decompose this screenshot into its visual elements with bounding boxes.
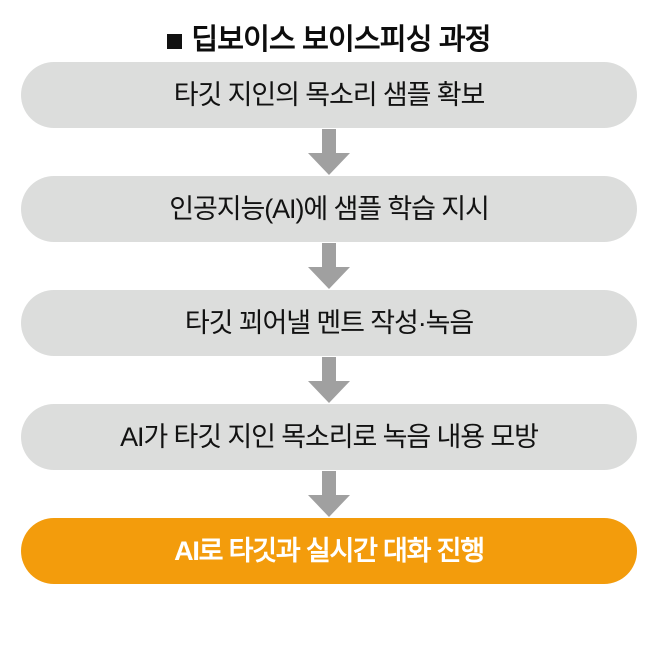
flow-step-label-5: AI로 타깃과 실시간 대화 진행 [174, 538, 484, 565]
flow-connector-3 [0, 356, 658, 404]
flow-container: 타깃 지인의 목소리 샘플 확보 인공지능(AI)에 샘플 학습 지시 타깃 꾀… [0, 62, 658, 584]
arrow-down-icon [308, 243, 350, 289]
flow-step-wrap-2: 인공지능(AI)에 샘플 학습 지시 [0, 176, 658, 242]
flow-step-label-2: 인공지능(AI)에 샘플 학습 지시 [169, 196, 488, 223]
flow-step-3[interactable]: 타깃 꾀어낼 멘트 작성·녹음 [21, 290, 637, 356]
flow-step-label-3: 타깃 꾀어낼 멘트 작성·녹음 [185, 310, 473, 337]
flow-step-4[interactable]: AI가 타깃 지인 목소리로 녹음 내용 모방 [21, 404, 637, 470]
flow-connector-4 [0, 470, 658, 518]
flow-connector-2 [0, 242, 658, 290]
deepvoice-voice-phishing-flowchart: 딥보이스 보이스피싱 과정 타깃 지인의 목소리 샘플 확보 인공지능(AI)에… [0, 0, 658, 647]
flow-step-wrap-3: 타깃 꾀어낼 멘트 작성·녹음 [0, 290, 658, 356]
flow-step-label-4: AI가 타깃 지인 목소리로 녹음 내용 모방 [120, 424, 538, 451]
arrow-down-icon [308, 471, 350, 517]
flow-step-1[interactable]: 타깃 지인의 목소리 샘플 확보 [21, 62, 637, 128]
page-title: 딥보이스 보이스피싱 과정 [191, 26, 490, 55]
flow-step-wrap-5: AI로 타깃과 실시간 대화 진행 [0, 518, 658, 584]
flow-step-wrap-1: 타깃 지인의 목소리 샘플 확보 [0, 62, 658, 128]
chart-title: 딥보이스 보이스피싱 과정 [0, 0, 658, 62]
flow-step-label-1: 타깃 지인의 목소리 샘플 확보 [174, 82, 485, 109]
arrow-down-icon [308, 357, 350, 403]
flow-step-5-final[interactable]: AI로 타깃과 실시간 대화 진행 [21, 518, 637, 584]
flow-connector-1 [0, 128, 658, 176]
flow-step-wrap-4: AI가 타깃 지인 목소리로 녹음 내용 모방 [0, 404, 658, 470]
arrow-down-icon [308, 129, 350, 175]
flow-step-2[interactable]: 인공지능(AI)에 샘플 학습 지시 [21, 176, 637, 242]
bullet-square-icon [167, 34, 182, 49]
